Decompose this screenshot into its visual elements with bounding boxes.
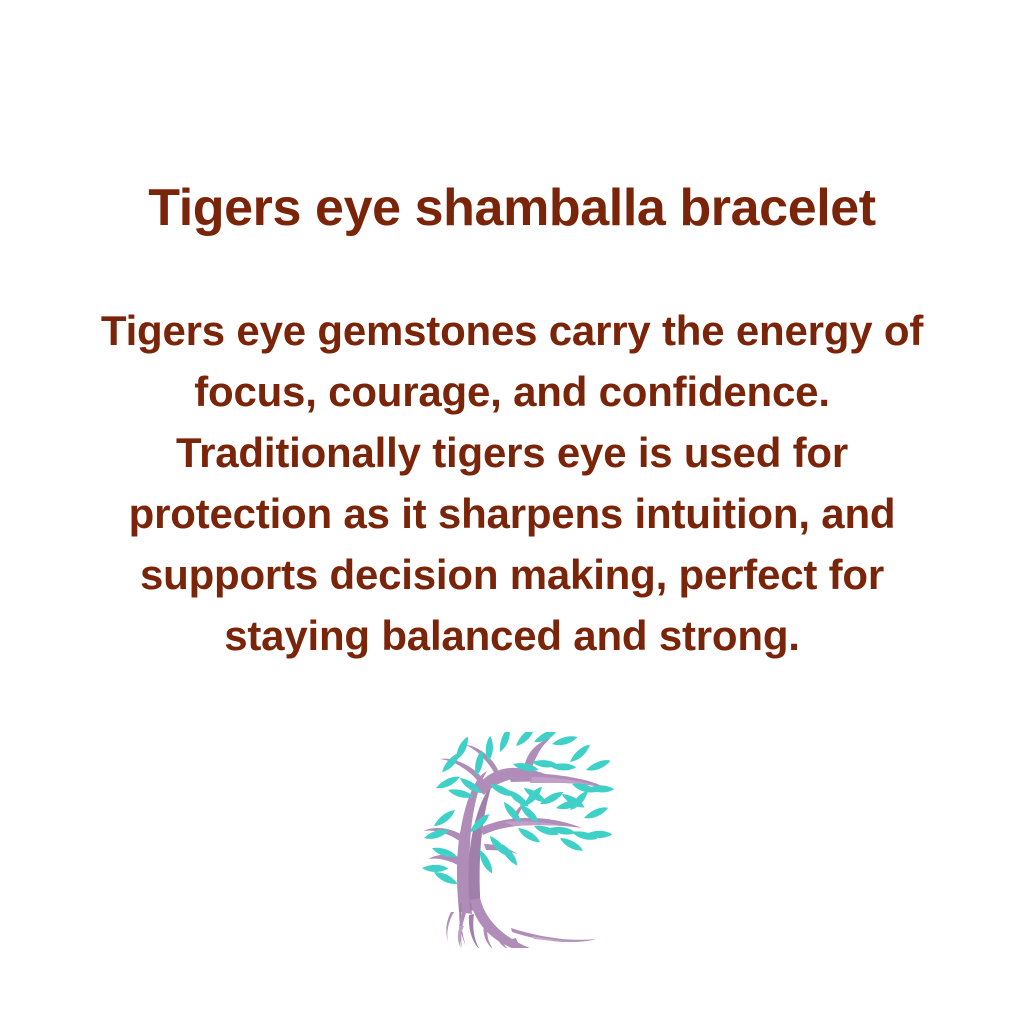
tree-of-life-icon [412,732,622,948]
description-line: Traditionally tigers eye is used for [62,422,962,483]
title-block: Tigers eye shamballa bracelet [0,176,1024,240]
description-line: focus, courage, and confidence. [62,361,962,422]
description-line: protection as it sharpens intuition, and [62,483,962,544]
brand-logo [412,732,622,948]
promo-card: Tigers eye shamballa bracelet Tigers eye… [0,0,1024,1024]
description-block: Tigers eye gemstones carry the energy of… [62,300,962,666]
description-line: Tigers eye gemstones carry the energy of [62,300,962,361]
description-line: staying balanced and strong. [62,605,962,666]
page-title: Tigers eye shamballa bracelet [0,176,1024,240]
description-line: supports decision making, perfect for [62,544,962,605]
